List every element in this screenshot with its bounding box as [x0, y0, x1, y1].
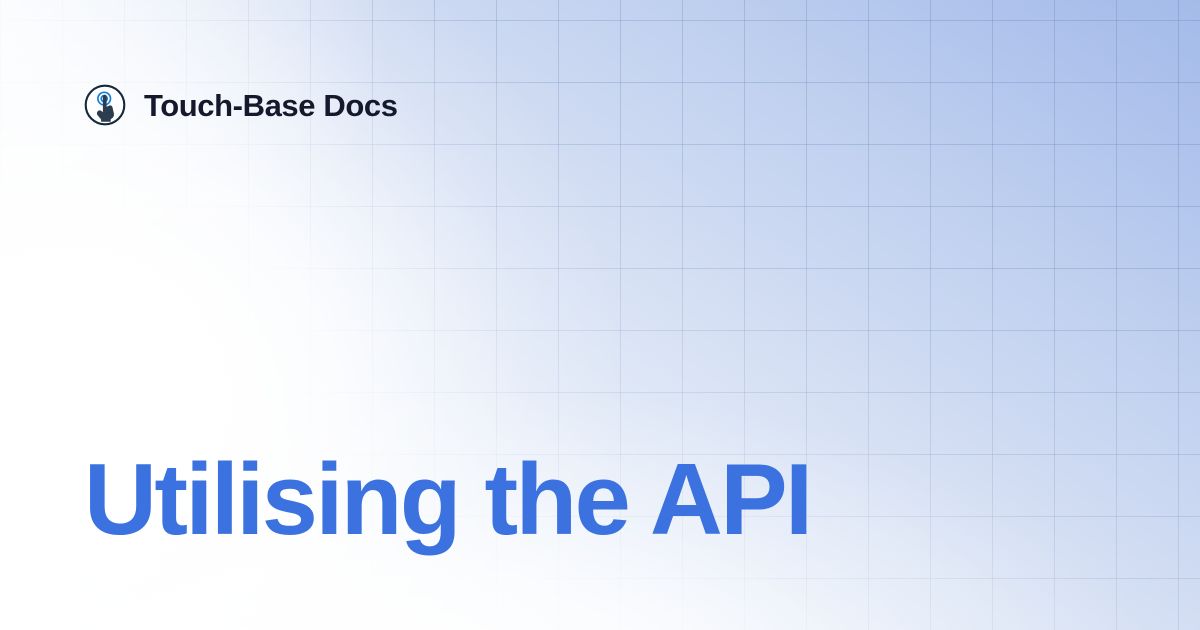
brand-name: Touch-Base Docs: [144, 90, 398, 121]
brand-lockup[interactable]: Touch-Base Docs: [84, 83, 398, 127]
og-card: Touch-Base Docs Utilising the API: [0, 0, 1200, 630]
hero-section: Utilising the API: [84, 449, 810, 552]
page-title: Utilising the API: [84, 449, 810, 552]
card-content: Touch-Base Docs Utilising the API: [0, 0, 1200, 630]
touch-tap-hand-icon: [84, 84, 126, 126]
